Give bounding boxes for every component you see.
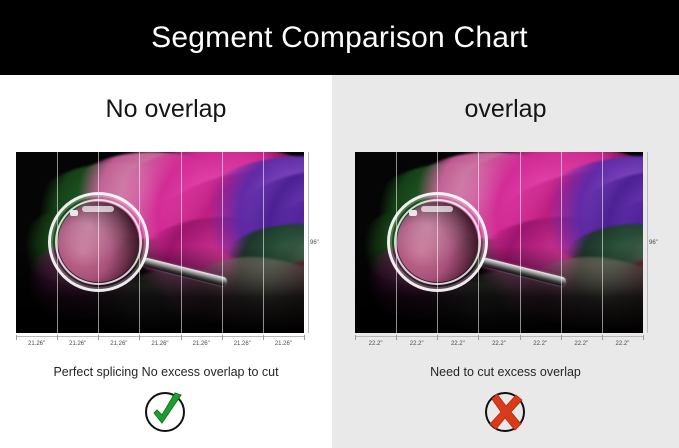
mural-overlap xyxy=(355,152,643,333)
ruler-tick xyxy=(478,335,479,340)
ruler-tick xyxy=(57,335,58,340)
seam-line xyxy=(181,152,182,333)
height-ruler-line xyxy=(647,152,648,333)
panel-overlap: overlap 96" 22.2"22.2"22.2"22.2"22.2"22.… xyxy=(332,75,679,448)
height-label: 96" xyxy=(649,238,658,248)
segment-width-label: 21.26" xyxy=(193,339,210,349)
caption-no-overlap: Perfect splicing No excess overlap to cu… xyxy=(0,366,332,379)
seam-line xyxy=(396,152,397,333)
ruler-tick xyxy=(520,335,521,340)
segment-width-label: 21.26" xyxy=(28,339,45,349)
panels-container: No overlap 96" 21.26"21.26"21.26"21.26"2… xyxy=(0,75,679,448)
ruler-tick xyxy=(643,335,644,340)
seam-line xyxy=(437,152,438,333)
ruler-tick xyxy=(263,335,264,340)
ruler-tick xyxy=(355,335,356,340)
segment-width-label: 21.26" xyxy=(110,339,127,349)
comparison-chart-page: Segment Comparison Chart No overlap 96" … xyxy=(0,0,679,448)
ruler-tick xyxy=(16,335,17,340)
mural-no-overlap xyxy=(16,152,304,333)
caption-overlap: Need to cut excess overlap xyxy=(332,366,679,379)
seam-line xyxy=(520,152,521,333)
ruler-tick xyxy=(98,335,99,340)
segment-width-label: 22.2" xyxy=(451,339,465,349)
segment-width-label: 21.26" xyxy=(234,339,251,349)
width-ruler-no-overlap: 21.26"21.26"21.26"21.26"21.26"21.26"21.2… xyxy=(16,335,304,351)
seam-line xyxy=(263,152,264,333)
ruler-tick xyxy=(561,335,562,340)
seam-line xyxy=(561,152,562,333)
seam-line xyxy=(478,152,479,333)
header-bar: Segment Comparison Chart xyxy=(0,0,679,75)
ruler-tick xyxy=(222,335,223,340)
red-cross-icon xyxy=(483,390,529,436)
segment-width-label: 22.2" xyxy=(574,339,588,349)
page-title: Segment Comparison Chart xyxy=(151,23,528,53)
panel-no-overlap: No overlap 96" 21.26"21.26"21.26"21.26"2… xyxy=(0,75,332,448)
width-ruler-line xyxy=(355,336,643,337)
panel-heading-overlap: overlap xyxy=(332,97,679,122)
ruler-tick xyxy=(139,335,140,340)
height-ruler-overlap: 96" xyxy=(645,152,663,333)
segment-width-label: 22.2" xyxy=(533,339,547,349)
check-glyph xyxy=(143,390,189,436)
seam-line xyxy=(139,152,140,333)
ruler-tick xyxy=(396,335,397,340)
segment-seam-lines xyxy=(355,152,643,333)
segment-width-label: 21.26" xyxy=(275,339,292,349)
segment-width-label: 22.2" xyxy=(616,339,630,349)
ruler-tick xyxy=(304,335,305,340)
ruler-tick xyxy=(602,335,603,340)
height-label: 96" xyxy=(310,238,319,248)
status-overlap xyxy=(332,390,679,436)
cross-glyph xyxy=(483,390,529,436)
seam-line xyxy=(602,152,603,333)
segment-width-label: 22.2" xyxy=(492,339,506,349)
width-ruler-overlap: 22.2"22.2"22.2"22.2"22.2"22.2"22.2" xyxy=(355,335,643,351)
segment-width-label: 21.26" xyxy=(69,339,86,349)
panel-heading-no-overlap: No overlap xyxy=(0,97,332,122)
status-no-overlap xyxy=(0,390,332,436)
segment-width-label: 22.2" xyxy=(410,339,424,349)
ruler-tick xyxy=(181,335,182,340)
ruler-tick xyxy=(437,335,438,340)
segment-width-label: 21.26" xyxy=(151,339,168,349)
height-ruler-line xyxy=(308,152,309,333)
segment-width-label: 22.2" xyxy=(369,339,383,349)
height-ruler-no-overlap: 96" xyxy=(306,152,324,333)
width-ruler-line xyxy=(16,336,304,337)
green-check-icon xyxy=(143,390,189,436)
seam-line xyxy=(222,152,223,333)
seam-line xyxy=(57,152,58,333)
seam-line xyxy=(98,152,99,333)
segment-seam-lines xyxy=(16,152,304,333)
